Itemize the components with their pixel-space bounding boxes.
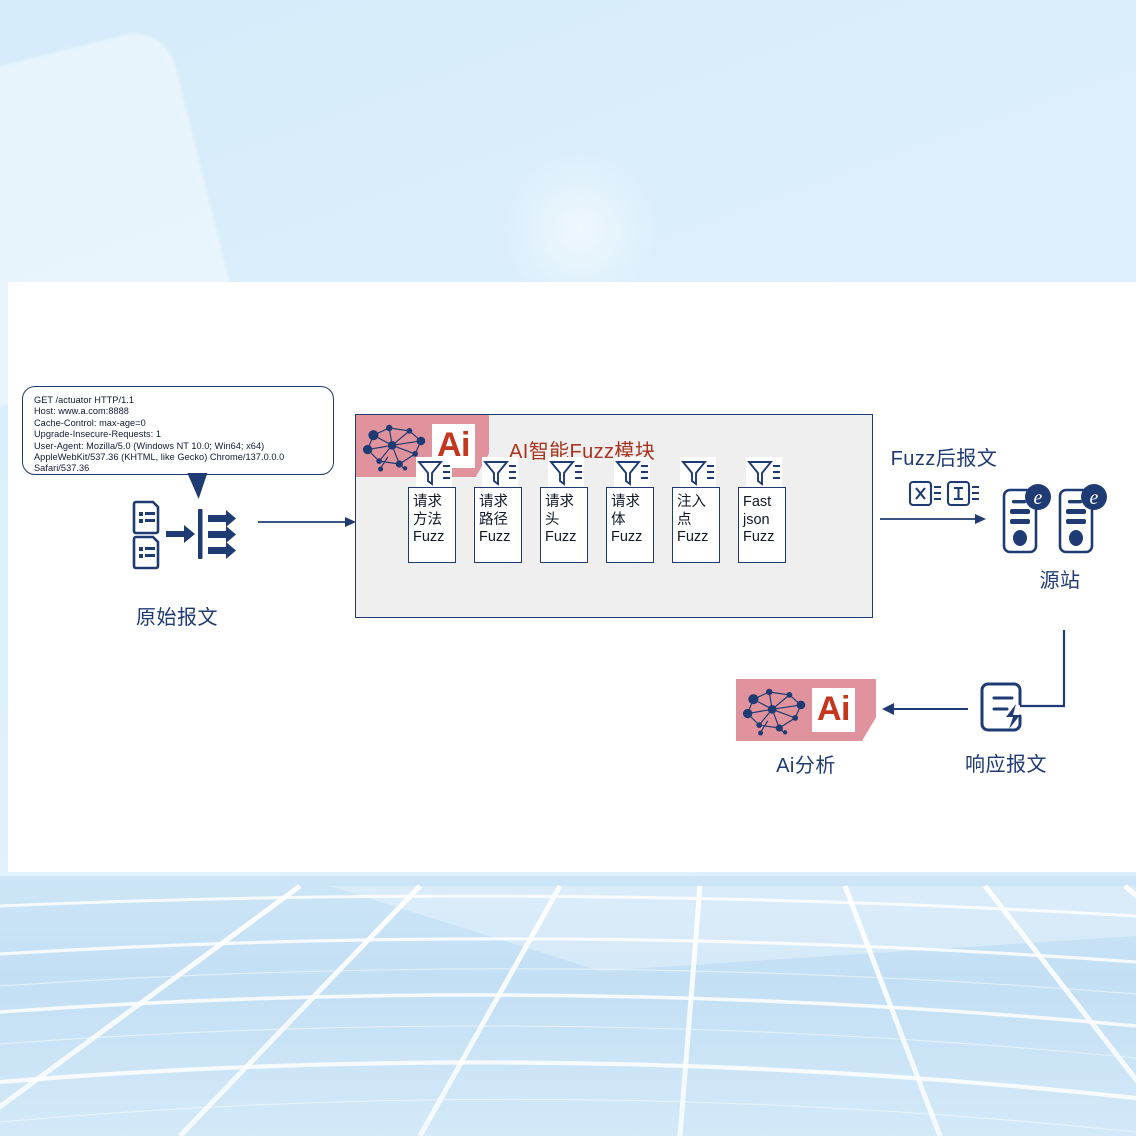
arrow-module-to-origin-icon (880, 510, 988, 528)
response-message-group: 响应报文 (948, 676, 1064, 777)
fuzz-line: Fuzz (479, 529, 518, 547)
original-message-label: 原始报文 (136, 601, 246, 630)
document-lightning-icon (978, 676, 1034, 738)
fuzz-line: 请求 (545, 494, 584, 512)
arrow-response-to-analysis-icon (882, 700, 968, 718)
fuzz-line: 请求 (413, 494, 452, 512)
fuzz-item[interactable]: 请求 路径 Fuzz (474, 487, 522, 563)
fuzz-line: Fuzz (611, 529, 650, 547)
fuzz-line: Fast (743, 494, 782, 512)
fuzz-items-row: 请求 方法 Fuzz 请求 路径 Fuzz (408, 487, 786, 563)
document-i-icon (948, 482, 979, 505)
fuzz-line: json (743, 512, 782, 530)
fuzz-line: 请求 (479, 494, 518, 512)
ai-analysis-badge-letters: Ai (812, 688, 855, 732)
fuzz-box-label: 请求 体 Fuzz (606, 487, 654, 563)
perspective-grid-icon (0, 876, 1136, 1136)
fuzzed-docs-icons (908, 477, 980, 511)
fuzz-item[interactable]: 注入 点 Fuzz (672, 487, 720, 563)
fuzz-line: Fuzz (743, 529, 782, 547)
fuzz-line: Fuzz (677, 529, 716, 547)
fuzz-item[interactable]: Fast json Fuzz (738, 487, 786, 563)
fuzz-line: Fuzz (413, 529, 452, 547)
svg-text:e: e (1034, 487, 1043, 509)
fuzz-item[interactable]: 请求 方法 Fuzz (408, 487, 456, 563)
svg-text:e: e (1090, 487, 1099, 509)
funnel-filter-icon (680, 457, 716, 487)
server-tower-icon: e e (1000, 478, 1112, 558)
fuzz-item[interactable]: 请求 体 Fuzz (606, 487, 654, 563)
fuzz-line: 体 (611, 512, 650, 530)
fuzzed-message-label: Fuzz后报文 (884, 442, 1004, 471)
fuzz-line: 方法 (413, 512, 452, 530)
fuzz-box-label: Fast json Fuzz (738, 487, 786, 563)
fuzz-line: 请求 (611, 494, 650, 512)
fuzz-box-label: 请求 路径 Fuzz (474, 487, 522, 563)
response-message-label: 响应报文 (948, 748, 1064, 777)
fuzz-line: 注入 (677, 494, 716, 512)
funnel-filter-icon (746, 457, 782, 487)
fuzz-line: 路径 (479, 512, 518, 530)
fuzz-item[interactable]: 请求 头 Fuzz (540, 487, 588, 563)
fuzz-line: Fuzz (545, 529, 584, 547)
fuzz-line: 点 (677, 512, 716, 530)
ai-network-icon (739, 684, 811, 736)
origin-site-group: e e 源站 (1000, 478, 1120, 593)
fuzz-box-label: 请求 方法 Fuzz (408, 487, 456, 563)
ai-analysis-label: Ai分析 (736, 749, 876, 778)
document-x-icon (910, 482, 941, 505)
background-grid-band (0, 876, 1136, 1136)
browser-e-badge-icon: e e (1025, 484, 1107, 510)
funnel-filter-icon (482, 457, 518, 487)
ai-analysis-group: Ai Ai分析 (736, 679, 876, 778)
origin-site-label: 源站 (1000, 564, 1120, 593)
original-message-group: 原始报文 (128, 495, 246, 630)
fuzz-line: 头 (545, 512, 584, 530)
ai-analysis-badge: Ai (736, 679, 876, 741)
fuzz-box-label: 请求 头 Fuzz (540, 487, 588, 563)
funnel-filter-icon (416, 457, 452, 487)
http-request-text: GET /actuator HTTP/1.1 Host: www.a.com:8… (34, 395, 323, 475)
funnel-filter-icon (548, 457, 584, 487)
arrow-original-to-module-icon (258, 512, 358, 532)
diagram-canvas: GET /actuator HTTP/1.1 Host: www.a.com:8… (0, 0, 1136, 1136)
documents-fanout-icon (128, 495, 246, 573)
funnel-filter-icon (614, 457, 650, 487)
fuzzed-message-group: Fuzz后报文 (884, 442, 1004, 511)
http-request-callout: GET /actuator HTTP/1.1 Host: www.a.com:8… (22, 386, 334, 475)
fuzz-box-label: 注入 点 Fuzz (672, 487, 720, 563)
ai-fuzz-module-panel: Ai AI智能Fuzz模块 请求 方法 Fuzz (355, 414, 873, 618)
